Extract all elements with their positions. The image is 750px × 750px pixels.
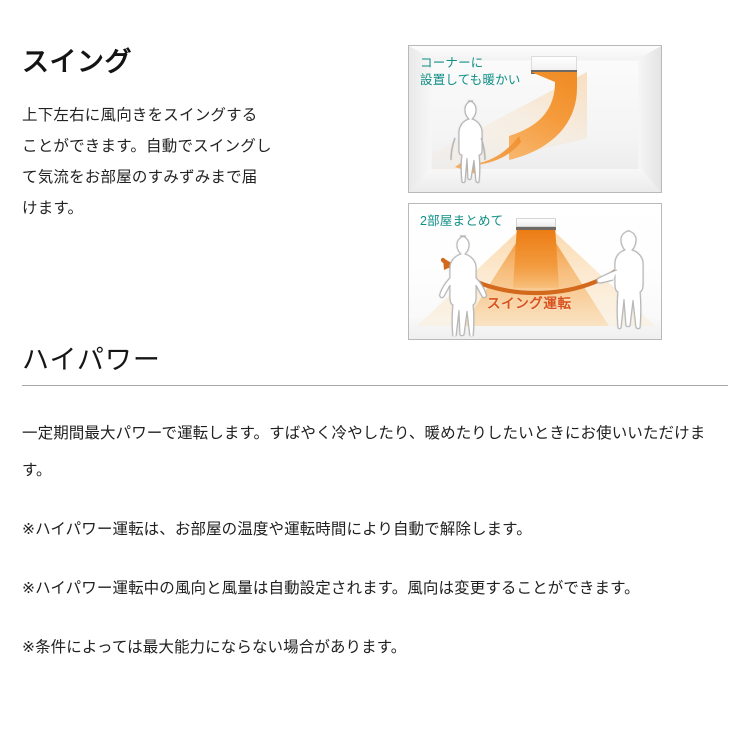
air-conditioner-unit-icon xyxy=(531,56,577,70)
two-room-swing-illustration: 2部屋まとめて スイング運転 xyxy=(408,203,662,340)
highpower-heading: ハイパワー xyxy=(22,338,161,377)
air-conditioner-vent-icon xyxy=(516,227,556,230)
swing-heading: スイング xyxy=(22,48,272,78)
person-silhouette xyxy=(447,98,489,184)
swing-feature-section: スイング 上下左右に風向きをスイングすることができます。自動でスイングして気流を… xyxy=(0,0,750,345)
highpower-note: ※条件によっては最大能力にならない場合があります。 xyxy=(22,629,732,666)
highpower-paragraph: 一定期間最大パワーで運転します。すばやく冷やしたり、暖めたりしたいときにお使いい… xyxy=(22,415,732,489)
highpower-body: 一定期間最大パワーで運転します。すばやく冷やしたり、暖めたりしたいときにお使いい… xyxy=(22,415,732,666)
swing-text-column: スイング 上下左右に風向きをスイングすることができます。自動でスイングして気流を… xyxy=(22,48,272,224)
person-silhouette-right xyxy=(593,226,651,338)
corner-panel-caption: コーナーに 設置しても暖かい xyxy=(420,55,521,89)
person-silhouette-left xyxy=(433,232,487,336)
swing-operation-label: スイング運転 xyxy=(487,292,572,312)
highpower-note: ※ハイパワー運転中の風向と風量は自動設定されます。風向は変更することができます。 xyxy=(22,570,732,607)
swing-description: 上下左右に風向きをスイングすることができます。自動でスイングして気流をお部屋のす… xyxy=(22,100,272,224)
corner-installation-illustration: コーナーに 設置しても暖かい xyxy=(408,45,662,193)
section-divider xyxy=(22,385,728,386)
air-conditioner-unit-icon xyxy=(516,218,556,227)
highpower-note: ※ハイパワー運転は、お部屋の温度や運転時間により自動で解除します。 xyxy=(22,511,732,548)
illustration-column: コーナーに 設置しても暖かい xyxy=(408,45,662,340)
swing-panel-caption: 2部屋まとめて xyxy=(420,213,503,230)
